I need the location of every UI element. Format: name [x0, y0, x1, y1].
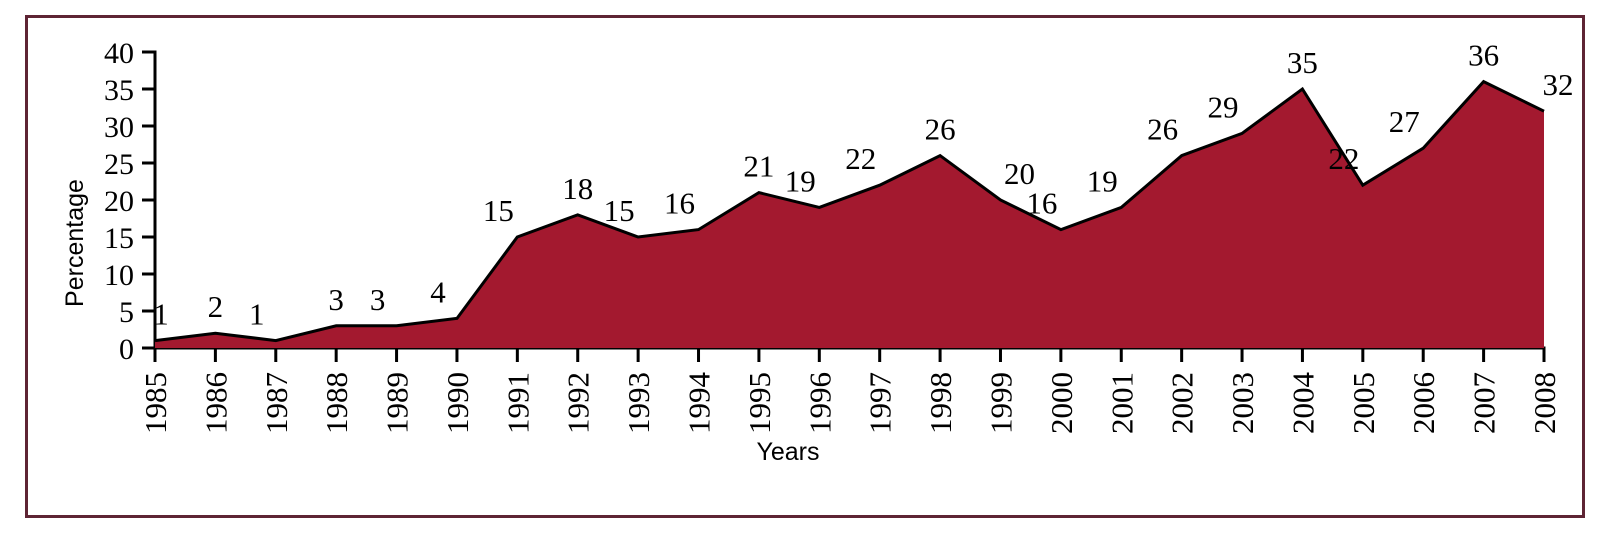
value-label-1993: 15 — [604, 193, 635, 228]
value-label-2002: 26 — [1147, 112, 1178, 147]
x-tick-label-2003: 2003 — [1225, 372, 1260, 434]
x-tick-label-1997: 1997 — [863, 372, 898, 434]
y-axis-ticks: 0 5 10 15 20 25 30 35 40 — [104, 37, 155, 366]
chart-frame: Percentage 0 5 10 15 20 25 30 35 40 — [25, 15, 1585, 518]
y-tick-label-35: 35 — [104, 74, 134, 107]
x-tick-label-1989: 1989 — [380, 372, 415, 434]
y-tick-label-10: 10 — [104, 259, 134, 292]
x-tick-label-1994: 1994 — [682, 372, 717, 435]
x-tick-label-1987: 1987 — [259, 372, 294, 434]
value-label-1988: 3 — [328, 282, 344, 317]
x-tick-label-1995: 1995 — [742, 372, 777, 434]
y-axis-title: Percentage — [61, 179, 89, 307]
x-tick-label-1990: 1990 — [440, 372, 475, 434]
area-chart: Percentage 0 5 10 15 20 25 30 35 40 — [28, 18, 1582, 515]
series-percentage — [155, 82, 1544, 348]
value-label-1990: 4 — [430, 274, 446, 309]
value-label-1985: 1 — [153, 297, 169, 332]
x-tick-label-1985: 1985 — [138, 372, 173, 434]
x-axis-title: Years — [756, 438, 819, 466]
x-axis-ticks — [155, 348, 1544, 362]
value-label-2001: 19 — [1087, 163, 1118, 198]
x-tick-label-2004: 2004 — [1285, 372, 1320, 435]
x-tick-label-2001: 2001 — [1104, 372, 1139, 434]
value-label-2005: 22 — [1328, 141, 1359, 176]
x-tick-label-2000: 2000 — [1044, 372, 1079, 434]
x-tick-label-1996: 1996 — [802, 372, 837, 434]
x-tick-label-1988: 1988 — [319, 372, 354, 434]
value-label-1991: 15 — [483, 193, 514, 228]
x-tick-label-1986: 1986 — [198, 372, 233, 434]
x-tick-label-1993: 1993 — [621, 372, 656, 434]
value-label-1998: 26 — [925, 112, 956, 147]
x-tick-label-2008: 2008 — [1527, 372, 1562, 434]
value-label-1986: 2 — [208, 289, 224, 324]
y-tick-label-0: 0 — [119, 333, 134, 366]
x-tick-label-2007: 2007 — [1467, 372, 1502, 434]
y-tick-label-15: 15 — [104, 222, 134, 255]
x-tick-label-1992: 1992 — [561, 372, 596, 434]
x-tick-label-1998: 1998 — [923, 372, 958, 434]
value-label-1994: 16 — [664, 186, 695, 221]
value-label-2000: 16 — [1026, 186, 1057, 221]
y-tick-label-30: 30 — [104, 111, 134, 144]
value-label-2006: 27 — [1389, 104, 1420, 139]
y-tick-label-40: 40 — [104, 37, 134, 70]
y-tick-label-25: 25 — [104, 148, 134, 181]
x-tick-label-1999: 1999 — [983, 372, 1018, 434]
value-label-1996: 19 — [785, 163, 816, 198]
x-tick-label-2005: 2005 — [1346, 372, 1381, 434]
x-tick-label-2006: 2006 — [1406, 372, 1441, 434]
value-label-1989: 3 — [370, 282, 386, 317]
value-label-2004: 35 — [1287, 45, 1318, 80]
x-tick-label-1991: 1991 — [500, 372, 535, 434]
x-axis-labels: 1985198619871988198919901991199219931994… — [138, 372, 1562, 435]
value-label-2008: 32 — [1543, 67, 1574, 102]
value-label-1995: 21 — [743, 149, 774, 184]
value-label-1997: 22 — [845, 141, 876, 176]
x-tick-label-2002: 2002 — [1165, 372, 1200, 434]
value-label-1992: 18 — [562, 171, 593, 206]
y-tick-label-5: 5 — [119, 296, 134, 329]
value-label-1987: 1 — [249, 297, 264, 332]
value-label-2003: 29 — [1208, 89, 1239, 124]
area-fill — [155, 82, 1544, 348]
value-label-2007: 36 — [1468, 38, 1499, 73]
y-tick-label-20: 20 — [104, 185, 134, 218]
